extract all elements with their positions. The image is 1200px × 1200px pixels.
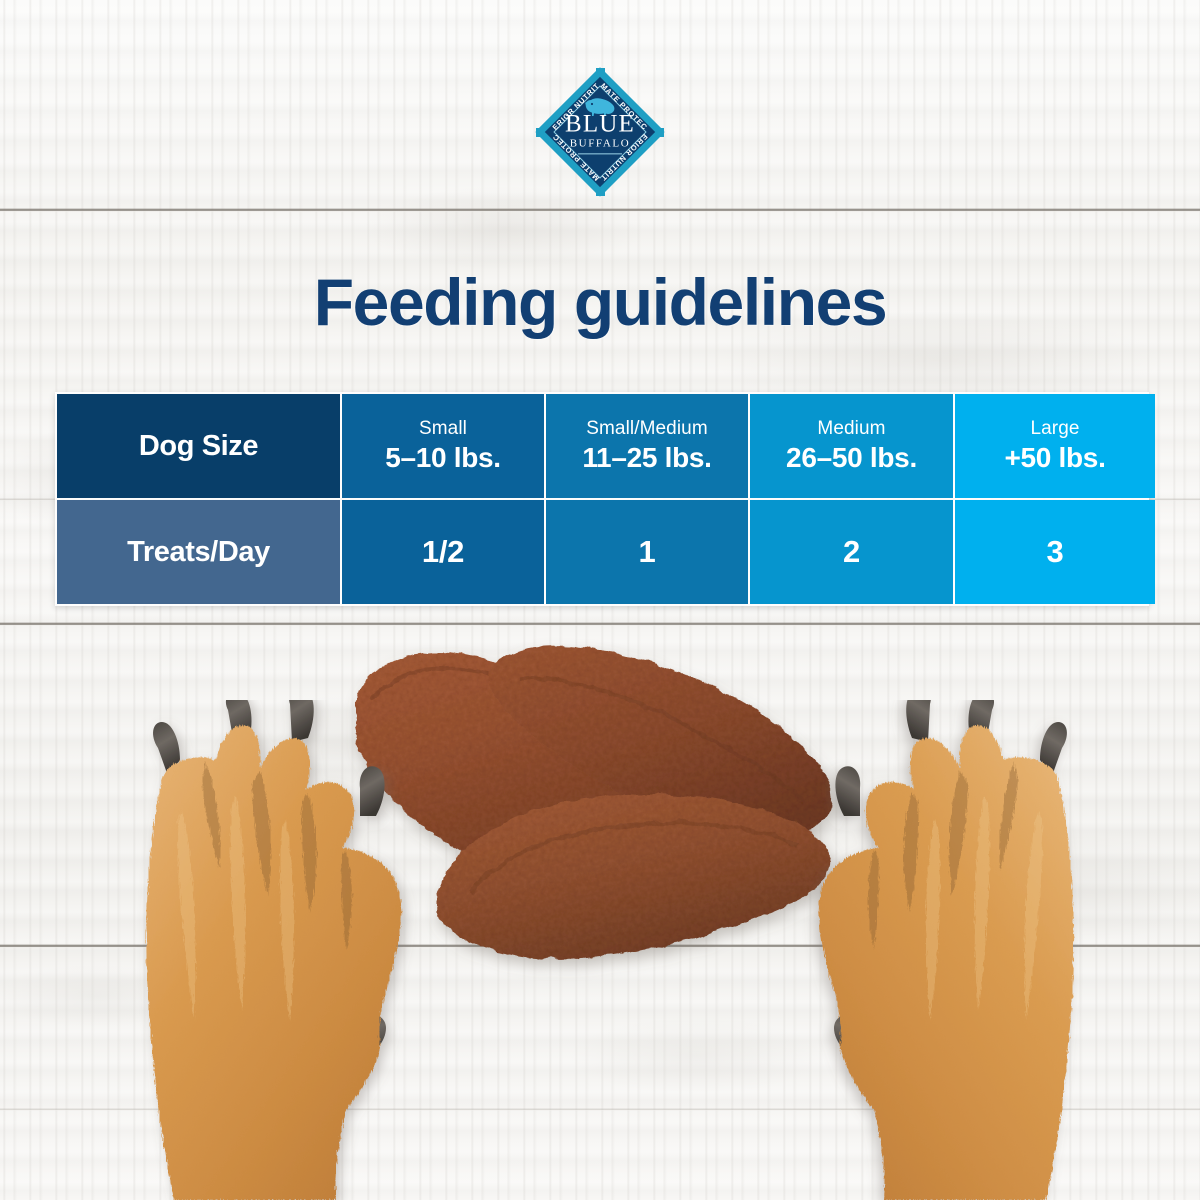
treats-value: 2	[843, 534, 860, 570]
table-header-cell-medium: Medium 26–50 lbs.	[750, 394, 953, 498]
logo-pip-bottom	[596, 187, 605, 196]
blue-buffalo-logo: SUPERIOR NUTRITION ULTIMATE PROTECTION U…	[534, 66, 666, 198]
size-label: Medium	[817, 418, 885, 440]
weight-range: 26–50 lbs.	[786, 443, 917, 474]
weight-range: 11–25 lbs.	[582, 443, 711, 474]
table-header-cell-small-medium: Small/Medium 11–25 lbs.	[546, 394, 748, 498]
size-label: Small/Medium	[586, 418, 708, 440]
treats-value: 1/2	[422, 534, 464, 570]
table-row-label-dog-size: Dog Size	[57, 394, 340, 498]
table-cell-treats-small: 1/2	[342, 500, 544, 604]
logo-pip-top	[596, 68, 605, 77]
feeding-guidelines-graphic: SUPERIOR NUTRITION ULTIMATE PROTECTION U…	[0, 0, 1200, 1200]
table-cell-treats-large: 3	[955, 500, 1155, 604]
row-label-text: Treats/Day	[127, 536, 270, 569]
logo-pip-right	[655, 128, 664, 137]
table-row-label-treats-day: Treats/Day	[57, 500, 340, 604]
bison-icon	[580, 96, 620, 118]
size-label: Large	[1030, 418, 1079, 440]
table-cell-treats-small-medium: 1	[546, 500, 748, 604]
table-cell-treats-medium: 2	[750, 500, 953, 604]
treats-value: 1	[639, 534, 656, 570]
table-header-cell-small: Small 5–10 lbs.	[342, 394, 544, 498]
treats-value: 3	[1047, 534, 1064, 570]
feeding-guidelines-table: Dog Size Small 5–10 lbs. Small/Medium 11…	[55, 392, 1149, 606]
row-label-text: Dog Size	[139, 430, 258, 463]
size-label: Small	[419, 418, 467, 440]
logo-pip-left	[536, 128, 545, 137]
weight-range: +50 lbs.	[1004, 443, 1105, 474]
page-title: Feeding guidelines	[0, 264, 1200, 340]
table-header-cell-large: Large +50 lbs.	[955, 394, 1155, 498]
weight-range: 5–10 lbs.	[385, 443, 501, 474]
